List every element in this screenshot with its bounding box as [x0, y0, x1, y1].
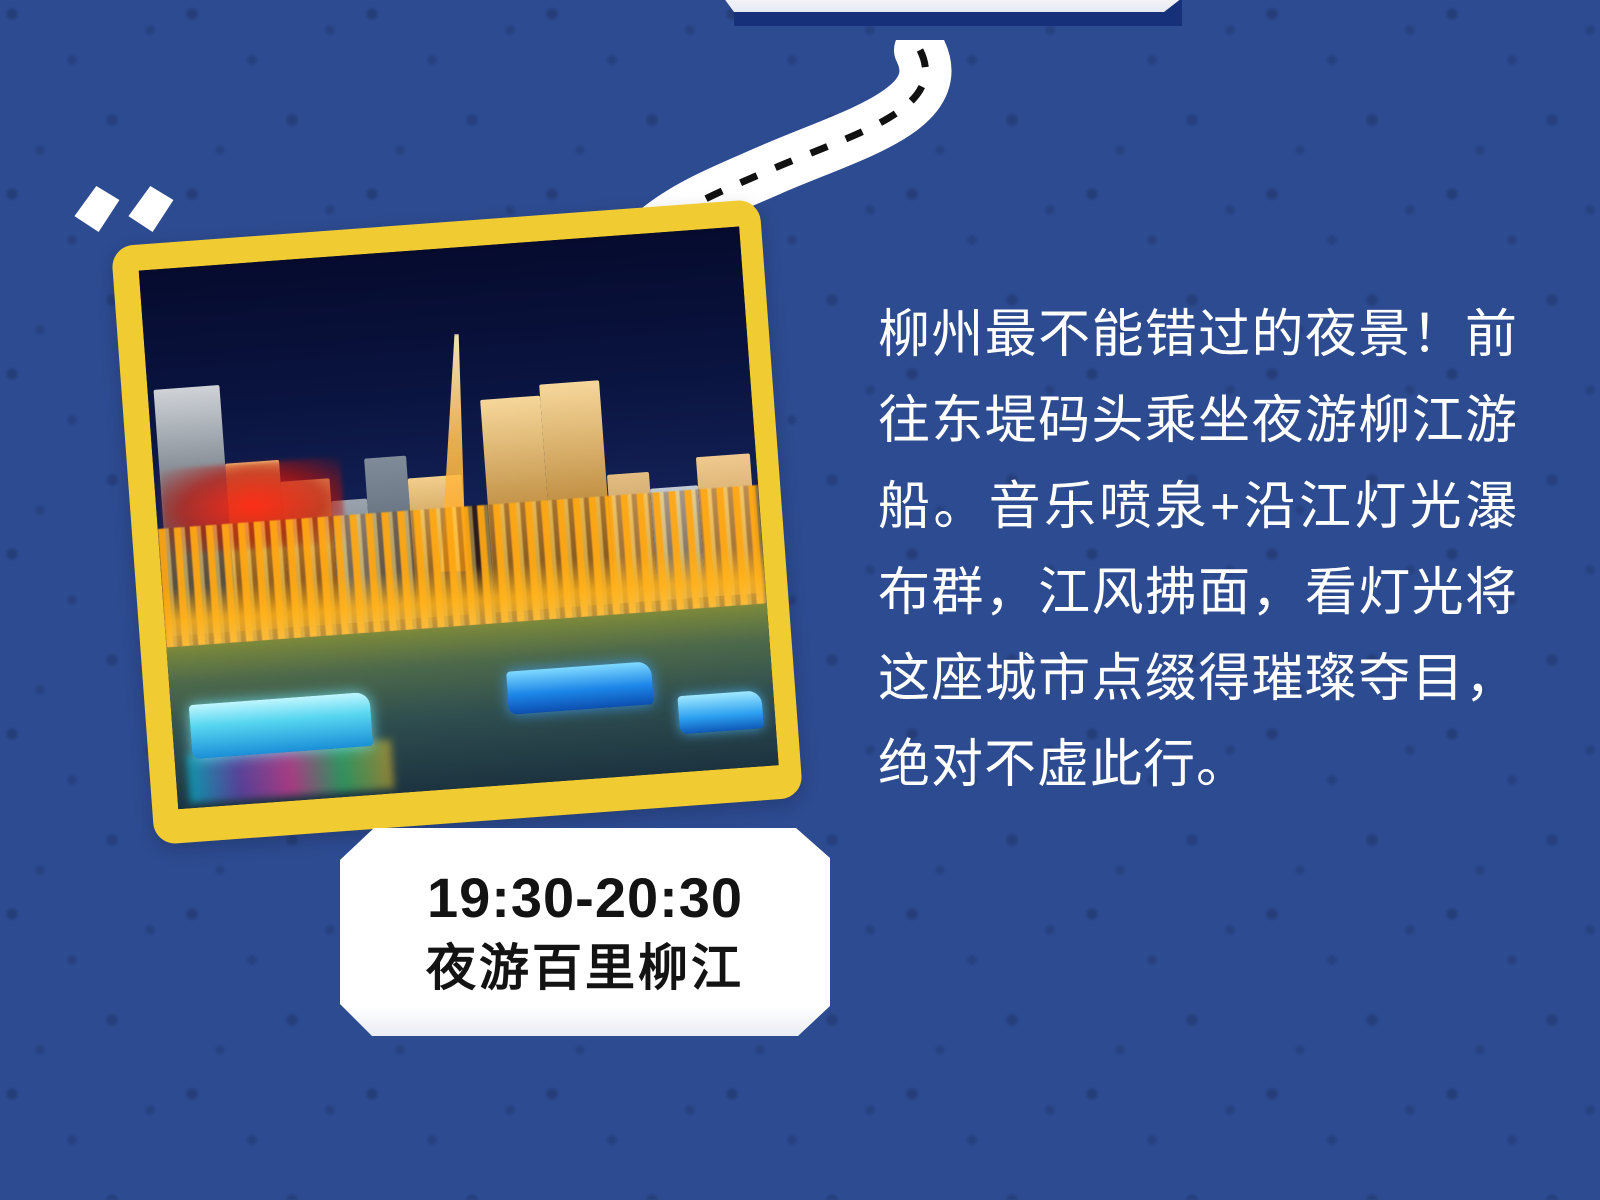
activity-caption: 夜游百里柳江: [426, 942, 744, 995]
quote-mark-left: [72, 184, 121, 233]
body-paragraph: 柳州最不能错过的夜景！前往东堤码头乘坐夜游柳江游船。音乐喷泉+沿江灯光瀑布群，江…: [878, 292, 1518, 808]
top-banner: 聚万家农庄: [712, 0, 1182, 60]
time-range-label: 19:30-20:30: [427, 869, 743, 928]
night-city-fountain-photo: [139, 227, 779, 810]
poster-canvas: 聚万家农庄: [0, 0, 1600, 1200]
page-title: 聚万家农庄: [827, 0, 1067, 12]
photo-frame: [111, 199, 803, 845]
time-card: 19:30-20:30 夜游百里柳江: [340, 828, 830, 1036]
banner-plate: 聚万家农庄: [712, 0, 1182, 12]
quote-mark-right: [126, 184, 175, 233]
photo-boat: [677, 691, 764, 735]
